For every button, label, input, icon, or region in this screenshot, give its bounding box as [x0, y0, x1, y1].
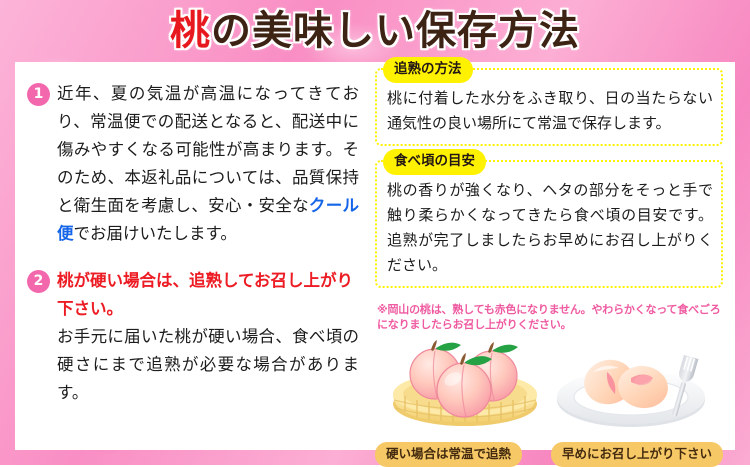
page-title: 桃の美味しい保存方法	[170, 11, 580, 51]
info-box-ripening-method: 追熟の方法 桃に付着した水分をふき取り、日の当たらない通気性の良い場所にて常温で…	[375, 68, 723, 146]
peaches-in-basket-icon	[379, 338, 551, 434]
item-2-heading: 桃が硬い場合は、追熟してお召し上がり下さい。	[57, 267, 359, 323]
item-2-paragraph: お手元に届いた桃が硬い場合、食べ頃の硬さにまで追熟が必要な場合があります。	[57, 323, 359, 407]
number-badge-1: 1	[27, 83, 50, 106]
list-item-body: 桃が硬い場合は、追熟してお召し上がり下さい。 お手元に届いた桃が硬い場合、食べ頃…	[57, 267, 359, 407]
caution-note: ※岡山の桃は、熟しても赤色になりません。やわらかくなって食べごろになりましたらお…	[377, 302, 723, 332]
left-column: 1 近年、夏の気温が高温になってきており、常温便での配送となると、配送中に傷みや…	[15, 62, 367, 450]
list-item-body: 近年、夏の気温が高温になってきており、常温便での配送となると、配送中に傷みやすく…	[57, 80, 359, 248]
info-box-text: 桃に付着した水分をふき取り、日の当たらない通気性の良い場所にて常温で保存します。	[387, 86, 713, 136]
page-title-rest: の美味しい保存方法	[211, 8, 580, 54]
peeled-peach-on-plate-icon	[551, 338, 723, 434]
item-1-text-after: でお届けいたします。	[74, 224, 237, 243]
info-box-text: 桃の香りが強くなり、ヘタの部分をそっと手で触り柔らかくなってきたら食べ頃の目安で…	[387, 178, 713, 278]
number-badge-2: 2	[27, 270, 50, 293]
info-box-tag: 追熟の方法	[383, 57, 473, 83]
title-banner: 桃の美味しい保存方法	[0, 0, 750, 62]
poster-root: 桃の美味しい保存方法 1 近年、夏の気温が高温になってきており、常温便での配送と…	[0, 0, 750, 465]
illustration-peaches-in-basket-cell	[379, 338, 551, 438]
two-column-layout: 1 近年、夏の気温が高温になってきており、常温便での配送となると、配送中に傷みや…	[15, 62, 735, 450]
right-column: 追熟の方法 桃に付着した水分をふき取り、日の当たらない通気性の良い場所にて常温で…	[367, 62, 735, 450]
info-box-ripeness-guide: 食べ頃の目安 桃の香りが強くなり、ヘタの部分をそっと手で触り柔らかくなってきたら…	[375, 160, 723, 288]
illustration-row	[375, 338, 723, 438]
caption-pill-ripen: 硬い場合は常温で追熱	[375, 442, 522, 467]
item-1-paragraph: 近年、夏の気温が高温になってきており、常温便での配送となると、配送中に傷みやすく…	[57, 80, 359, 248]
list-item: 1 近年、夏の気温が高温になってきており、常温便での配送となると、配送中に傷みや…	[27, 80, 359, 248]
list-item: 2 桃が硬い場合は、追熟してお召し上がり下さい。 お手元に届いた桃が硬い場合、食…	[27, 267, 359, 407]
info-box-tag: 食べ頃の目安	[383, 149, 486, 175]
illustration-peeled-peach-on-plate-cell	[551, 338, 723, 438]
caption-pill-eat-soon: 早めにお召し上がり下さい	[551, 442, 723, 467]
caption-row: 硬い場合は常温で追熱 早めにお召し上がり下さい	[375, 442, 723, 467]
content-card: 1 近年、夏の気温が高温になってきており、常温便での配送となると、配送中に傷みや…	[15, 62, 735, 450]
page-title-accent: 桃	[170, 8, 211, 54]
